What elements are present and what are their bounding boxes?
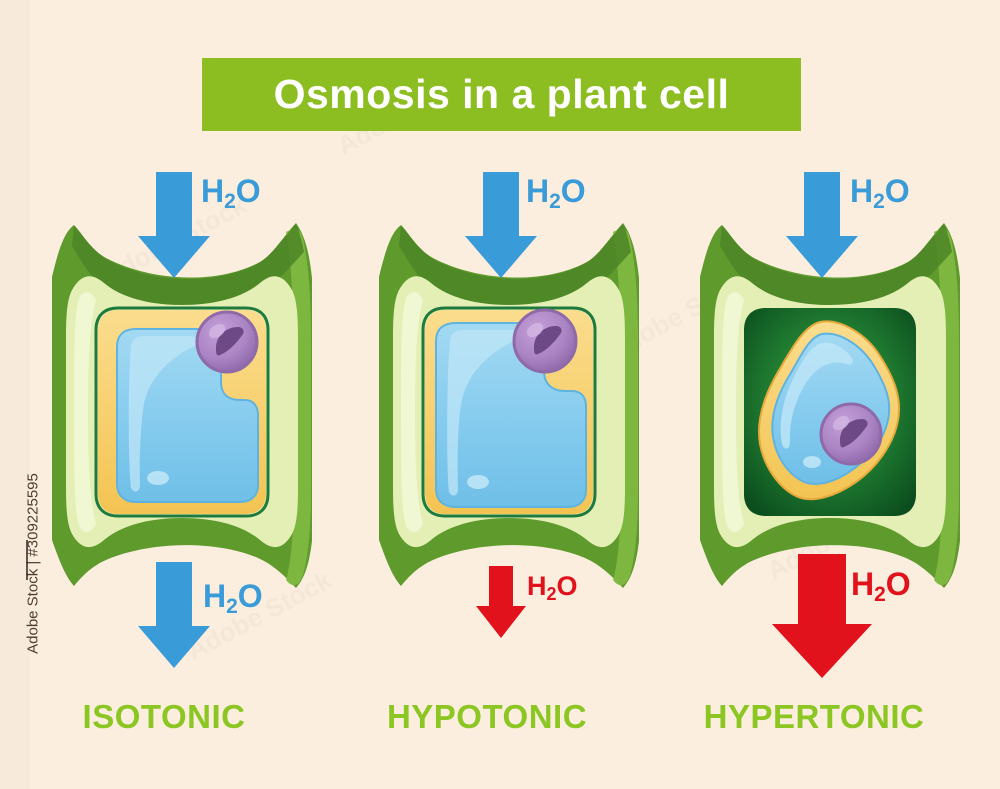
cell-isotonic [52,223,312,588]
h2o-sub: 2 [226,595,238,618]
h2o-o: O [236,173,261,209]
h2o-label-outflow-hypotonic: H2O [527,573,578,600]
h2o-o: O [561,173,586,209]
h2o-h: H [527,571,547,601]
h2o-o: O [557,571,578,601]
arrow-outflow-isotonic [138,562,210,668]
h2o-sub: 2 [549,190,561,213]
panel-label-hypertonic: HYPERTONIC [664,698,964,736]
h2o-sub: 2 [547,584,557,604]
cell-hypertonic [700,223,960,588]
h2o-h: H [850,173,873,209]
vacuole-bubble [803,456,821,468]
h2o-h: H [201,173,224,209]
h2o-sub: 2 [873,190,885,213]
h2o-label-outflow-hypertonic: H2O [851,568,911,600]
arrow-inflow-isotonic [138,172,210,278]
h2o-o: O [886,566,911,602]
h2o-sub: 2 [874,583,886,606]
h2o-label-inflow-hypotonic: H2O [526,175,586,207]
h2o-o: O [885,173,910,209]
watermark-text: Adobe Stock | #309225595 [25,439,42,689]
cell-hypotonic [379,223,639,588]
diagram-canvas: Adobe Stock Adobe Stock Adobe Stock Adob… [0,0,1000,789]
vacuole-bubble [147,471,169,485]
osmosis-illustration [0,0,1000,789]
h2o-label-inflow-isotonic: H2O [201,175,261,207]
h2o-label-outflow-isotonic: H2O [203,580,263,612]
panel-label-isotonic: ISOTONIC [14,698,314,736]
panel-label-hypotonic: HYPOTONIC [337,698,637,736]
h2o-h: H [851,566,874,602]
h2o-label-inflow-hypertonic: H2O [850,175,910,207]
arrow-outflow-hypotonic [476,566,526,638]
vacuole-bubble [467,475,489,489]
arrow-inflow-hypertonic [786,172,858,278]
h2o-sub: 2 [224,190,236,213]
h2o-h: H [526,173,549,209]
h2o-o: O [238,578,263,614]
h2o-h: H [203,578,226,614]
